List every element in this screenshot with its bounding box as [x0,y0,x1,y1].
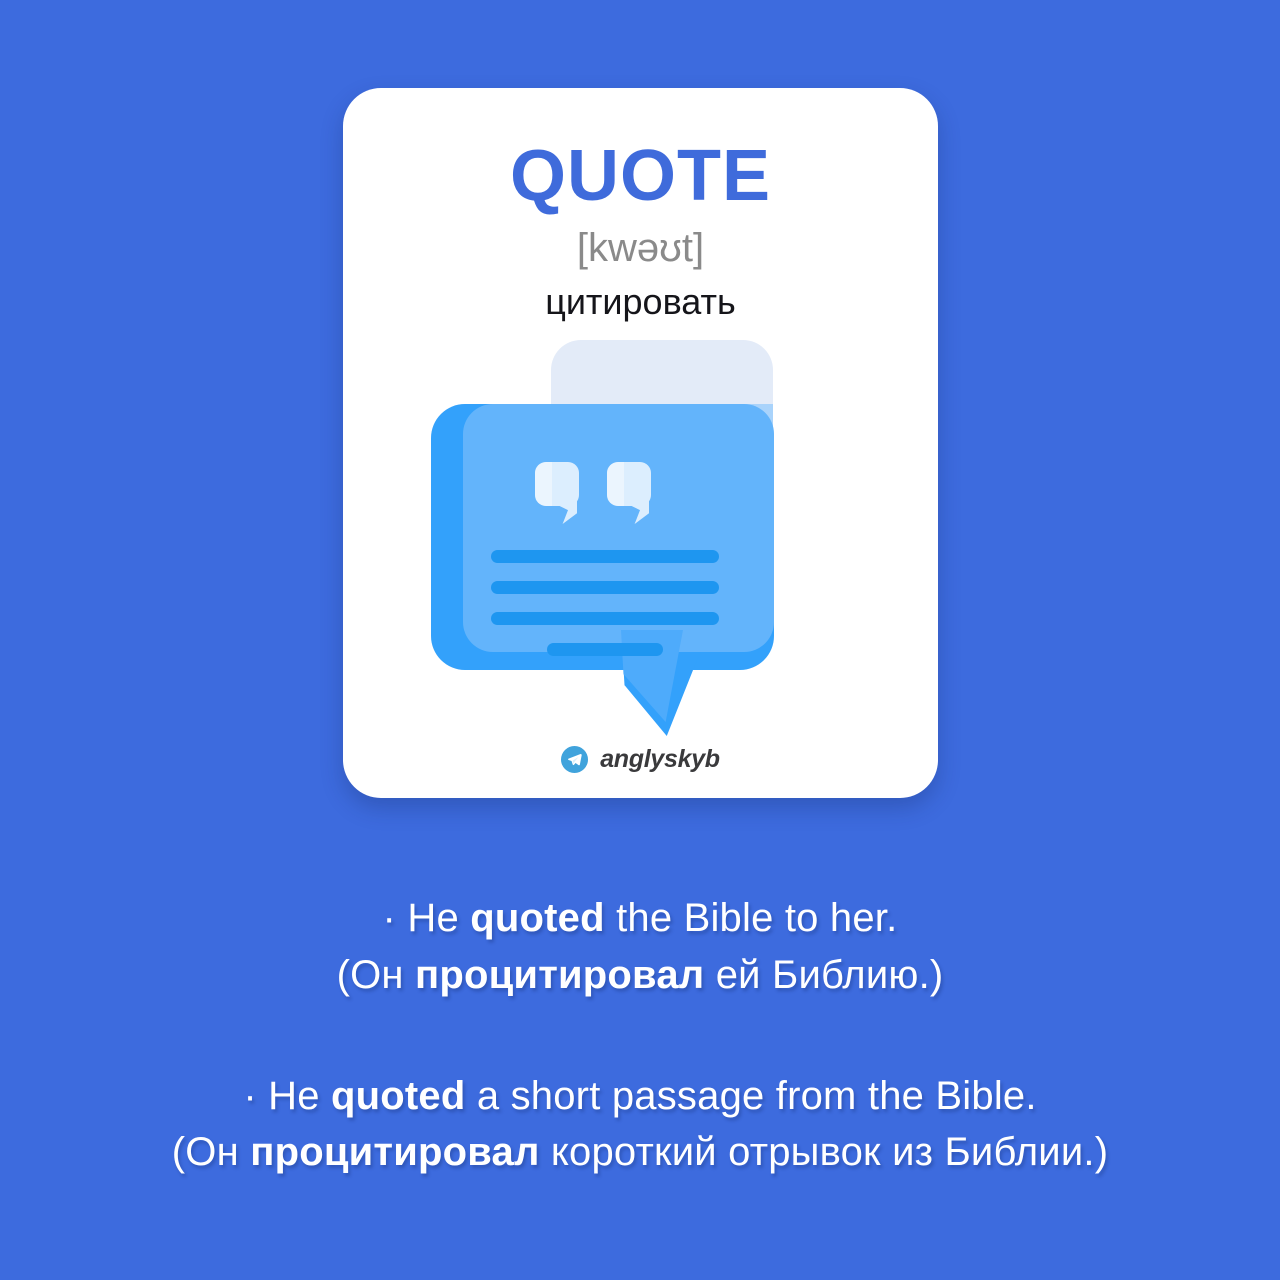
example-russian-prefix: (Он [337,953,415,997]
translation-text: цитировать [343,284,938,320]
brand-credit[interactable]: anglyskyb [343,745,938,774]
bubble-text-line [547,643,663,656]
example-english-prefix: · He [383,896,471,940]
bubble-text-line [491,581,719,594]
example-english-prefix: · He [243,1074,331,1118]
telegram-icon [561,746,588,773]
speech-bubble-quote-illustration [421,340,881,752]
example-english-keyword: quoted [331,1074,466,1118]
examples-section: · He quoted the Bible to her. (Он процит… [0,890,1280,1181]
example-russian-suffix: короткий отрывок из Библии.) [540,1130,1109,1174]
example-russian-line: (Он процитировал короткий отрывок из Биб… [0,1124,1280,1181]
quotation-mark-notch [607,462,624,506]
example-russian-keyword: процитировал [415,953,704,997]
brand-handle: anglyskyb [600,745,720,774]
example-english-keyword: quoted [470,896,605,940]
example-english-line: · He quoted a short passage from the Bib… [0,1068,1280,1125]
example-russian-prefix: (Он [172,1130,250,1174]
quotation-mark-icon [607,462,651,506]
quotation-mark-notch [535,462,552,506]
example-english-suffix: the Bible to her. [605,896,898,940]
example-russian-suffix: ей Библию.) [704,953,943,997]
word-card: QUOTE [kwəʊt] цитировать anglyskyb [343,88,938,798]
quotation-mark-icon [535,462,579,506]
example-block: · He quoted a short passage from the Bib… [0,1068,1280,1182]
example-english-line: · He quoted the Bible to her. [0,890,1280,947]
phonetic-transcription: [kwəʊt] [343,228,938,268]
bubble-text-line [491,612,719,625]
example-english-suffix: a short passage from the Bible. [466,1074,1037,1118]
page-title: QUOTE [343,140,938,212]
example-russian-keyword: процитировал [250,1130,539,1174]
bubble-text-line [491,550,719,563]
example-block: · He quoted the Bible to her. (Он процит… [0,890,1280,1004]
example-russian-line: (Он процитировал ей Библию.) [0,947,1280,1004]
